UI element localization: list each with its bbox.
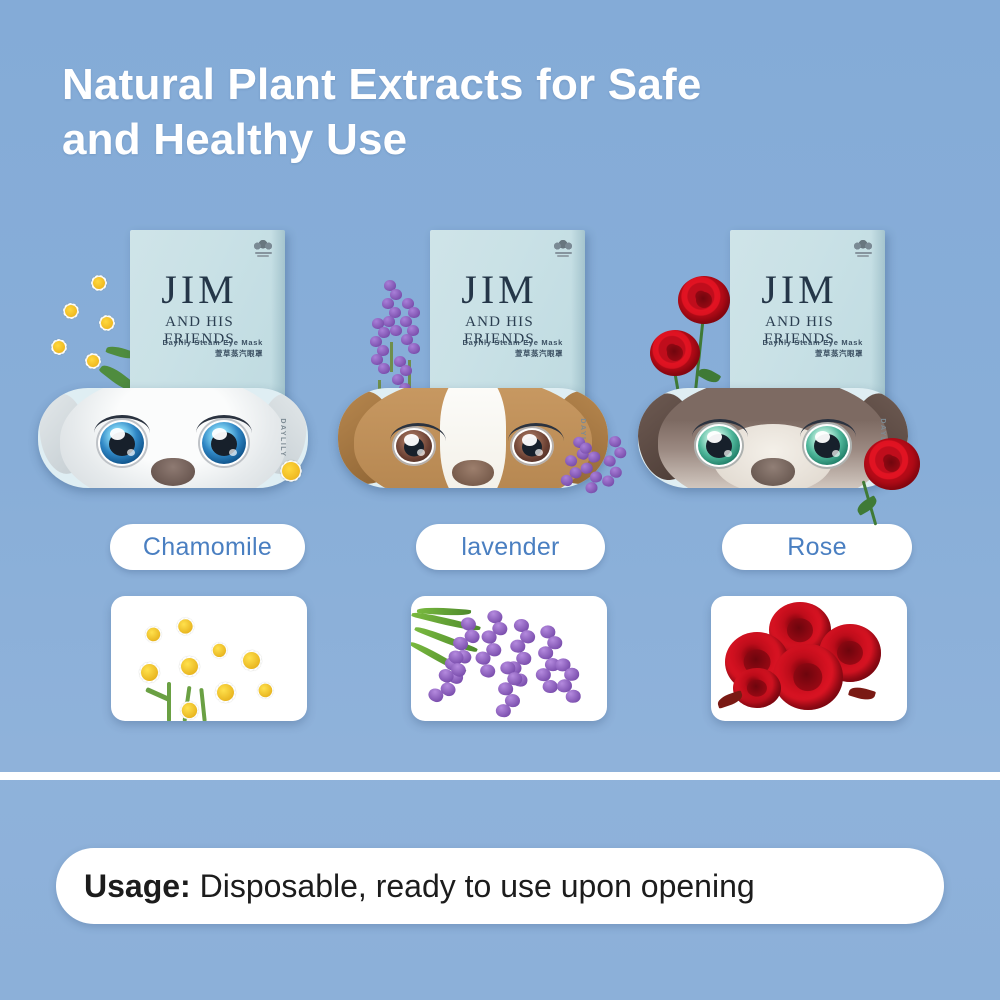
variant-label-rose[interactable]: Rose bbox=[722, 524, 912, 570]
product-showcase: JIM AND HIS FRIENDS Daylily Steam Eye Ma… bbox=[0, 228, 1000, 528]
box-description-cn: 萱草蒸汽眼罩 bbox=[515, 348, 563, 359]
section-divider bbox=[0, 772, 1000, 780]
variant-label-chamomile[interactable]: Chamomile bbox=[110, 524, 305, 570]
ingredient-card-lavender[interactable] bbox=[411, 596, 607, 721]
box-description-cn: 萱草蒸汽眼罩 bbox=[815, 348, 863, 359]
product-chamomile: JIM AND HIS FRIENDS Daylily Steam Eye Ma… bbox=[30, 228, 330, 528]
box-description-cn: 萱草蒸汽眼罩 bbox=[215, 348, 263, 359]
chamomile-foreground-flower bbox=[266, 446, 316, 496]
page-title: Natural Plant Extracts for Safe and Heal… bbox=[62, 58, 842, 167]
ingredient-card-rose[interactable] bbox=[711, 596, 907, 721]
box-brand-name: JIM bbox=[730, 266, 869, 313]
headline-line-2: and Healthy Use bbox=[62, 113, 842, 168]
ingredient-card-chamomile[interactable] bbox=[111, 596, 307, 721]
box-description-en: Daylily Steam Eye Mask bbox=[763, 338, 863, 347]
ingredient-photo-cards bbox=[0, 596, 1000, 726]
box-brand-name: JIM bbox=[130, 266, 269, 313]
product-lavender: JIM AND HIS FRIENDS Daylily Steam Eye Ma… bbox=[330, 228, 630, 528]
product-rose: JIM AND HIS FRIENDS Daylily Steam Eye Ma… bbox=[630, 228, 930, 528]
brand-logo-icon bbox=[550, 237, 576, 259]
brand-logo-icon bbox=[250, 237, 276, 259]
box-description-en: Daylily Steam Eye Mask bbox=[463, 338, 563, 347]
usage-banner: Usage: Disposable, ready to use upon ope… bbox=[56, 848, 944, 924]
variant-labels: Chamomile lavender Rose bbox=[0, 524, 1000, 576]
lavender-foreground-flowers bbox=[560, 436, 640, 516]
variant-label-lavender[interactable]: lavender bbox=[416, 524, 605, 570]
usage-text: Usage: Disposable, ready to use upon ope… bbox=[56, 868, 755, 905]
box-description-en: Daylily Steam Eye Mask bbox=[163, 338, 263, 347]
rose-foreground-flower bbox=[852, 428, 942, 518]
usage-label: Usage: bbox=[84, 868, 191, 904]
headline-line-1: Natural Plant Extracts for Safe bbox=[62, 58, 842, 113]
box-brand-name: JIM bbox=[430, 266, 569, 313]
usage-description: Disposable, ready to use upon opening bbox=[191, 868, 755, 904]
brand-logo-icon bbox=[850, 237, 876, 259]
